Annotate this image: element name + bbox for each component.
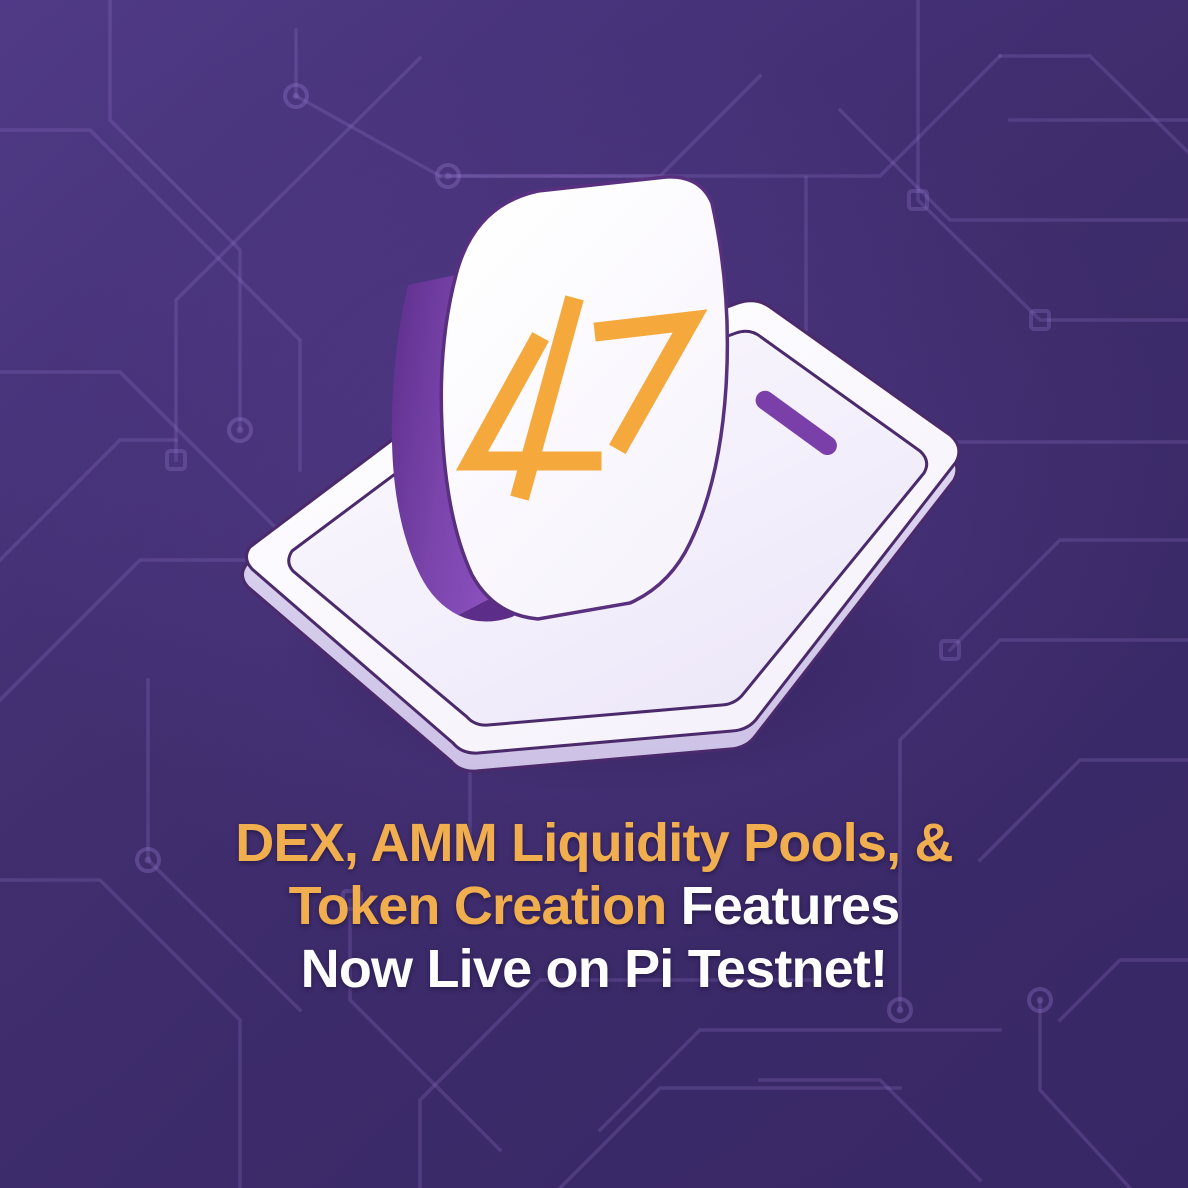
announcement-poster: DEX, AMM Liquidity Pools, & Token Creati… <box>0 0 1188 1188</box>
headline-line-1-accent: DEX, AMM Liquidity Pools, & <box>235 813 952 873</box>
headline-line-2-accent: Token Creation <box>289 876 681 936</box>
headline-line-3: Now Live on Pi Testnet! <box>60 938 1128 1001</box>
headline-line-1: DEX, AMM Liquidity Pools, & <box>60 812 1128 875</box>
headline-line-2: Token Creation Features <box>60 875 1128 938</box>
headline-block: DEX, AMM Liquidity Pools, & Token Creati… <box>0 812 1188 1002</box>
headline-line-2-plain: Features <box>681 876 900 936</box>
code-badge <box>392 177 728 622</box>
hero-illustration <box>220 175 980 795</box>
headline-line-3-plain: Now Live on Pi Testnet! <box>301 939 888 999</box>
